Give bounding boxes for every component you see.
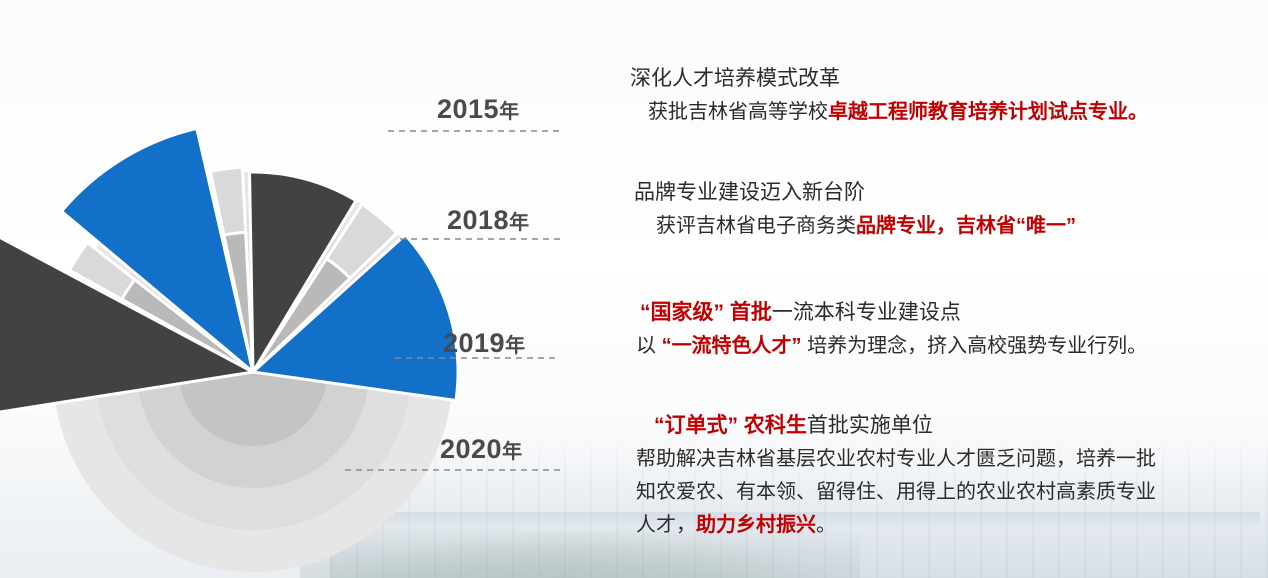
entry-line: 知农爱农、有本领、留得住、用得上的农业农村高素质专业 (636, 482, 1156, 503)
text-run-plain: 以 (636, 335, 662, 357)
text-run-red: “一流特色人才” (662, 335, 802, 357)
entry-line: “订单式” 农科生首批实施单位 (654, 415, 1156, 437)
text-run-plain: 获评吉林省电子商务类 (656, 215, 856, 237)
text-run-red: 品牌专业，吉林省“唯一” (856, 215, 1076, 237)
entry-block-2015: 深化人才培养模式改革获批吉林省高等学校卓越工程师教育培养计划试点专业。 (630, 68, 1148, 123)
year-label-2019: 2019年 (443, 328, 526, 359)
text-run-plain: 首批实施单位 (807, 414, 933, 437)
entry-line: “国家级” 首批一流本科专业建设点 (640, 302, 1147, 324)
text-run-plain: 品牌专业建设迈入新台阶 (634, 181, 865, 204)
text-run-plain: 人才， (636, 514, 696, 536)
year-suffix: 年 (502, 441, 523, 463)
entry-line: 人才，助力乡村振兴。 (636, 515, 1156, 536)
text-run-plain: 深化人才培养模式改革 (630, 67, 840, 90)
entry-line: 以 “一流特色人才” 培养为理念，挤入高校强势专业行列。 (636, 336, 1147, 357)
entry-block-2019: “国家级” 首批一流本科专业建设点以 “一流特色人才” 培养为理念，挤入高校强势… (636, 302, 1147, 357)
year-suffix: 年 (509, 212, 530, 234)
text-run-red: “国家级” 首批 (640, 301, 772, 324)
year-suffix: 年 (499, 101, 520, 123)
text-run-red: 卓越工程师教育培养计划试点专业。 (828, 101, 1148, 123)
rose-wedges (0, 128, 458, 417)
year-suffix: 年 (505, 335, 526, 357)
year-number: 2018 (447, 205, 509, 235)
year-label-2020: 2020年 (440, 434, 523, 465)
entry-block-2020: “订单式” 农科生首批实施单位帮助解决吉林省基层农业农村专业人才匮乏问题，培养一… (636, 415, 1156, 536)
year-number: 2015 (437, 94, 499, 124)
text-run-red: 助力乡村振兴 (696, 514, 816, 536)
text-run-plain: 培养为理念，挤入高校强势专业行列。 (802, 335, 1148, 357)
text-run-plain: 。 (816, 514, 836, 536)
rose-chart (0, 0, 560, 578)
entry-line: 帮助解决吉林省基层农业农村专业人才匮乏问题，培养一批 (636, 449, 1156, 470)
entry-line: 深化人才培养模式改革 (630, 68, 1148, 90)
text-run-plain: 帮助解决吉林省基层农业农村专业人才匮乏问题，培养一批 (636, 448, 1156, 470)
year-number: 2019 (443, 328, 505, 358)
entry-line: 获评吉林省电子商务类品牌专业，吉林省“唯一” (656, 216, 1076, 237)
entry-block-2018: 品牌专业建设迈入新台阶获评吉林省电子商务类品牌专业，吉林省“唯一” (630, 182, 1076, 237)
text-run-plain: 获批吉林省高等学校 (648, 101, 828, 123)
slide-canvas: 2015年2018年2019年2020年 深化人才培养模式改革获批吉林省高等学校… (0, 0, 1268, 578)
text-run-plain: 知农爱农、有本领、留得住、用得上的农业农村高素质专业 (636, 481, 1156, 503)
year-label-2015: 2015年 (437, 94, 520, 125)
text-run-plain: 一流本科专业建设点 (772, 301, 961, 324)
year-number: 2020 (440, 434, 502, 464)
year-label-2018: 2018年 (447, 205, 530, 236)
text-run-red: “订单式” 农科生 (654, 414, 807, 437)
entry-line: 品牌专业建设迈入新台阶 (634, 182, 1076, 204)
entry-line: 获批吉林省高等学校卓越工程师教育培养计划试点专业。 (648, 102, 1148, 123)
